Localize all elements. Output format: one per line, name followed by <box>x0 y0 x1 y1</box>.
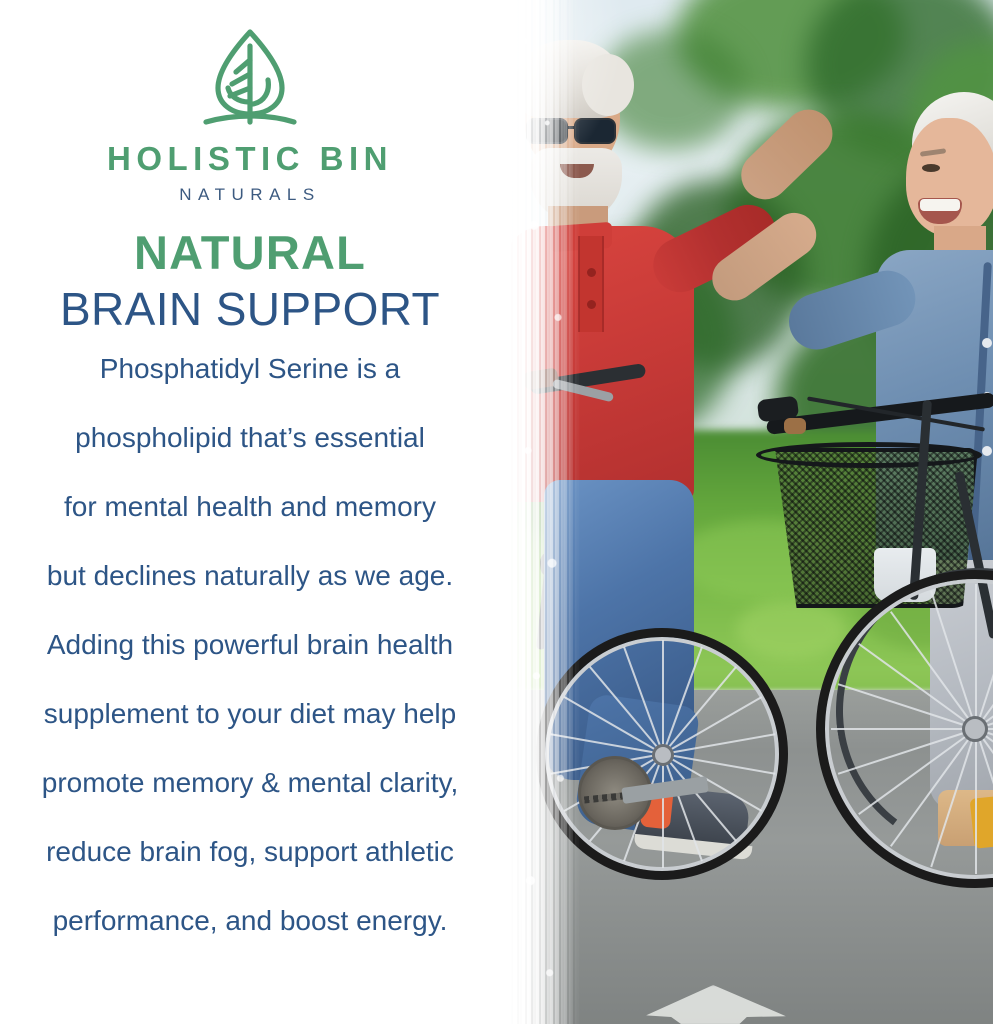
body-line: for mental health and memory <box>0 493 500 521</box>
text-panel: HOLISTIC BIN NATURALS NATURAL BRAIN SUPP… <box>0 0 500 1024</box>
jacket-button <box>982 338 992 348</box>
eye <box>922 164 940 172</box>
body-line: phospholipid that’s essential <box>0 424 500 452</box>
photo-content <box>476 0 993 1024</box>
teeth <box>920 199 960 211</box>
brand-name: HOLISTIC BIN <box>107 142 393 175</box>
lifestyle-photo <box>476 0 993 1024</box>
body-line: Phosphatidyl Serine is a <box>0 355 500 383</box>
female-cyclist <box>726 0 993 1024</box>
body-line: reduce brain fog, support athletic <box>0 838 500 866</box>
photo-edge-speckle <box>516 0 576 1024</box>
basket-rim <box>756 442 982 468</box>
shirt-button <box>587 268 596 277</box>
brand-tagline: NATURALS <box>179 186 320 203</box>
body-line: supplement to your diet may help <box>0 700 500 728</box>
product-ad-banner: HOLISTIC BIN NATURALS NATURAL BRAIN SUPP… <box>0 0 993 1024</box>
polo-placket <box>578 236 604 332</box>
bike-bell-icon <box>784 418 806 434</box>
body-line: performance, and boost energy. <box>0 907 500 935</box>
jacket-button <box>982 446 992 456</box>
wheel-hub <box>962 716 988 742</box>
headline-line-2: BRAIN SUPPORT <box>60 286 440 333</box>
wheel-hub <box>652 744 674 766</box>
body-copy: Phosphatidyl Serine is a phospholipid th… <box>0 355 500 935</box>
body-line: Adding this powerful brain health <box>0 631 500 659</box>
body-line: but declines naturally as we age. <box>0 562 500 590</box>
headline-line-1: NATURAL <box>134 229 366 277</box>
leaf-sprout-icon <box>190 22 310 134</box>
body-line: promote memory & mental clarity, <box>0 769 500 797</box>
shirt-button <box>587 300 596 309</box>
